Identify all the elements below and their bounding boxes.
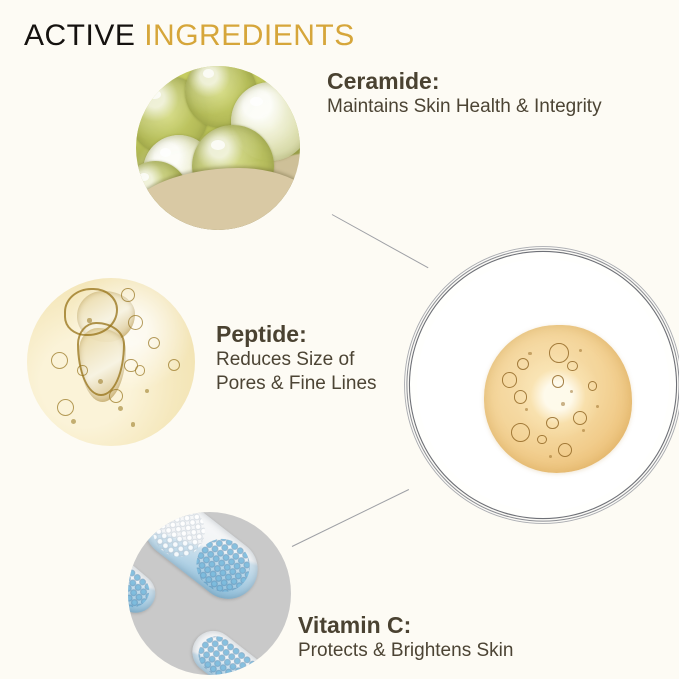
label-ceramide: Ceramide: Maintains Skin Health & Integr… xyxy=(327,67,602,119)
dish-inner-surface xyxy=(417,259,669,511)
ingredient-name-peptide: Peptide: xyxy=(216,320,377,348)
infographic-canvas: ACTIVE INGREDIENTS xyxy=(0,0,679,679)
title-word-active: ACTIVE xyxy=(24,19,135,52)
ingredient-desc-vitaminc-line1: Protects & Brightens Skin xyxy=(298,639,513,663)
ingredient-name-ceramide: Ceramide: xyxy=(327,67,602,95)
ingredient-image-vitaminc xyxy=(128,512,291,675)
ingredient-image-ceramide xyxy=(136,66,300,230)
ingredient-desc-ceramide-line1: Maintains Skin Health & Integrity xyxy=(327,95,602,119)
connector-line-vitaminc xyxy=(292,489,409,547)
title-word-ingredients: INGREDIENTS xyxy=(144,19,355,52)
petri-dish xyxy=(410,252,676,518)
ingredient-name-vitaminc: Vitamin C: xyxy=(298,611,513,639)
serum-droplet xyxy=(484,325,632,473)
page-title: ACTIVE INGREDIENTS xyxy=(24,19,355,53)
label-peptide: Peptide: Reduces Size of Pores & Fine Li… xyxy=(216,320,377,397)
ingredient-desc-peptide-line2: Pores & Fine Lines xyxy=(216,372,377,396)
label-vitaminc: Vitamin C: Protects & Brightens Skin xyxy=(298,611,513,663)
ingredient-image-peptide xyxy=(27,278,195,446)
connector-line-ceramide xyxy=(332,214,429,268)
ingredient-desc-peptide-line1: Reduces Size of xyxy=(216,348,377,372)
capsule-bottom xyxy=(183,622,281,675)
